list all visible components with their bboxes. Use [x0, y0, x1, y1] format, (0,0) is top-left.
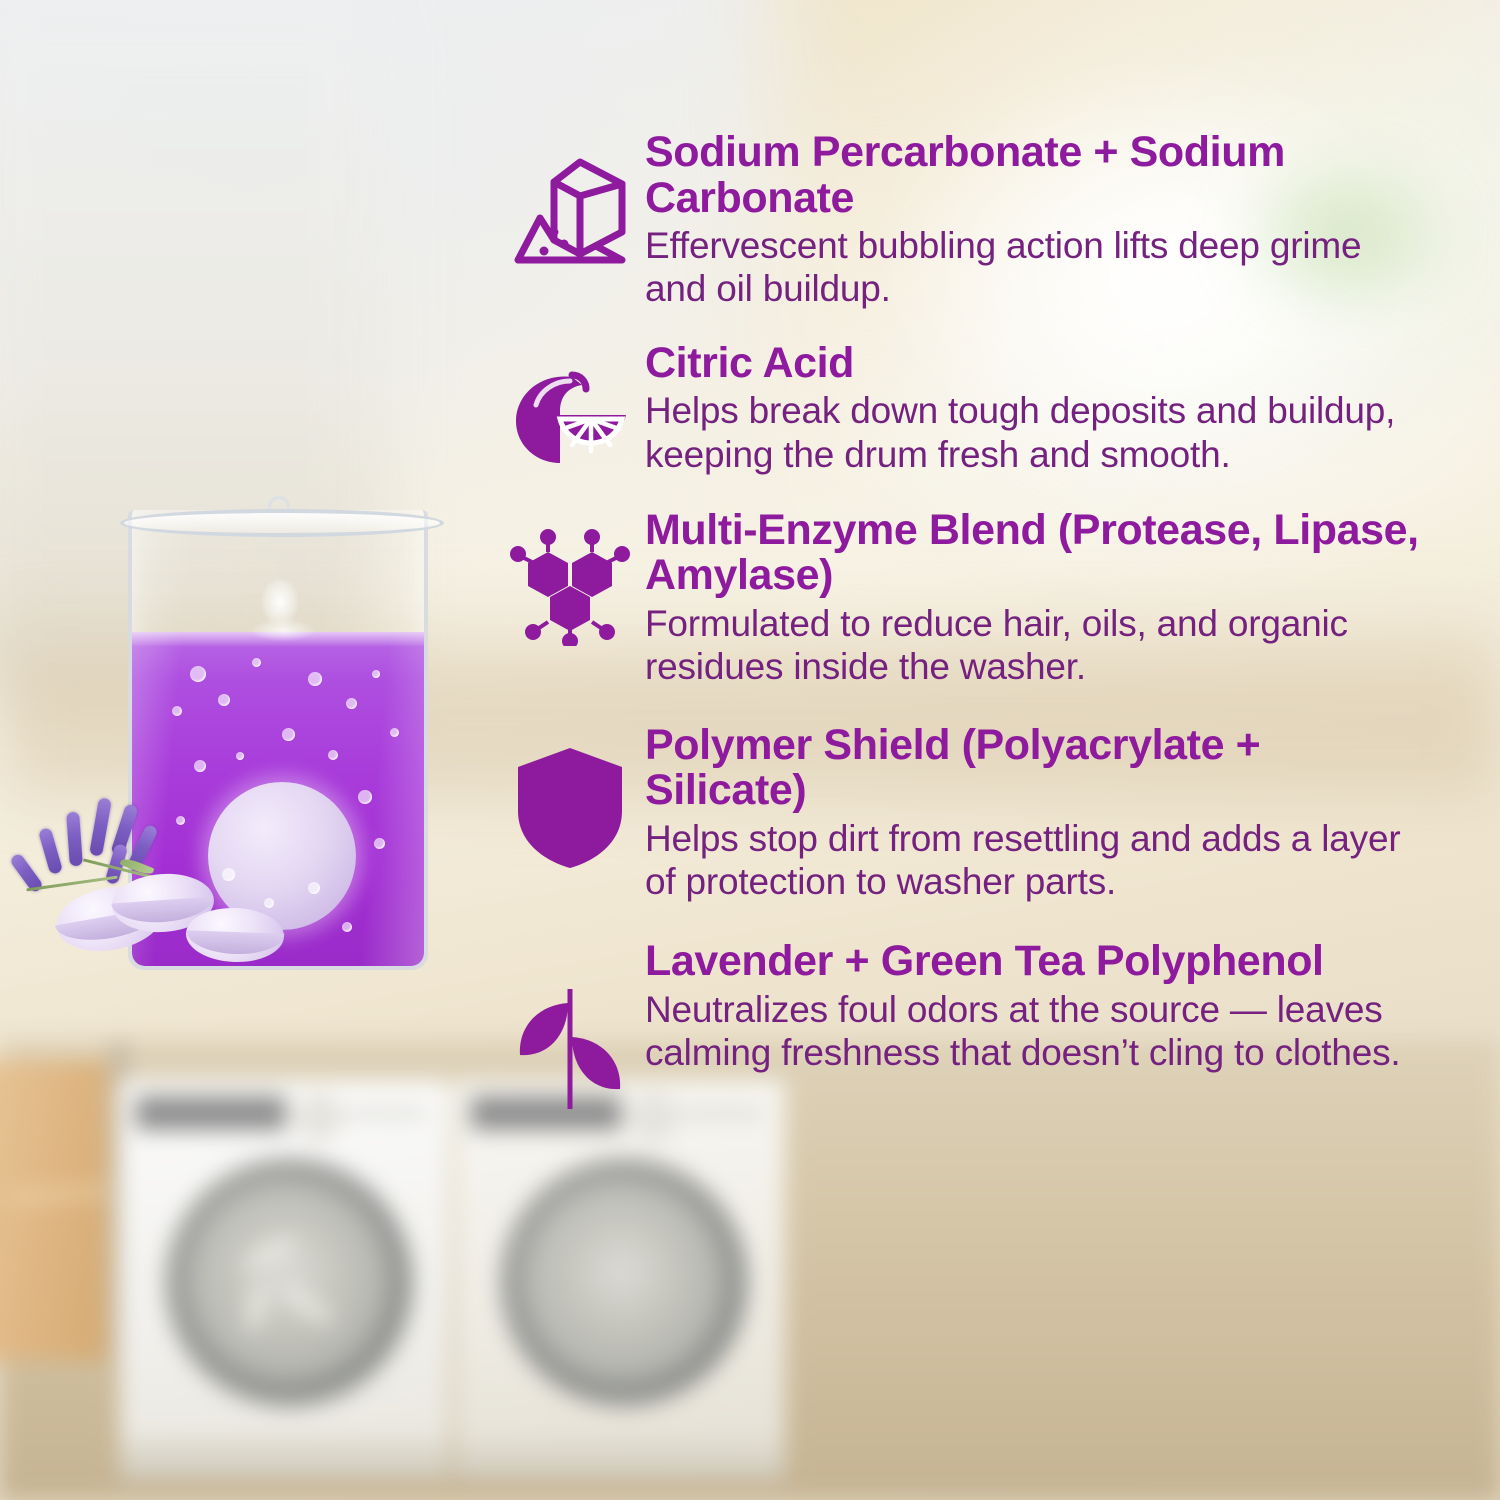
washer-dial	[298, 1096, 340, 1138]
feature-text: Sodium Percarbonate + Sodium Carbonate E…	[645, 128, 1425, 311]
washing-machine-left	[120, 1080, 450, 1480]
beaker-rim	[120, 509, 444, 537]
leaf-sprig-icon	[512, 985, 628, 1113]
bubble	[308, 882, 320, 894]
molecule-icon	[510, 528, 630, 646]
feature-description: Effervescent bubbling action lifts deep …	[645, 224, 1425, 311]
feature-text: Polymer Shield (Polyacrylate + Silicate)…	[645, 721, 1425, 904]
wood-cabinet	[0, 1060, 120, 1360]
feature-item: Lavender + Green Tea Polyphenol Neutrali…	[495, 937, 1425, 1113]
bubble	[358, 790, 372, 804]
bubble	[328, 750, 338, 760]
feature-text: Multi-Enzyme Blend (Protease, Lipase, Am…	[645, 506, 1425, 689]
washer-drum	[553, 1211, 695, 1353]
product-photo	[0, 470, 480, 1040]
bubble	[194, 760, 206, 772]
feature-icon-wrap	[495, 528, 645, 646]
bubble	[342, 922, 352, 932]
bubble	[308, 672, 322, 686]
drum-blade	[240, 1232, 299, 1273]
shield-icon	[514, 745, 626, 871]
powder-cube-icon	[510, 156, 630, 268]
bubble	[222, 868, 235, 881]
lavender-spike	[89, 797, 112, 856]
feature-title: Lavender + Green Tea Polyphenol	[645, 939, 1425, 985]
feature-title: Citric Acid	[645, 341, 1425, 387]
bubble	[190, 666, 206, 682]
lavender-spike	[38, 827, 63, 875]
feature-description: Neutralizes foul odors at the source — l…	[645, 988, 1425, 1075]
splash-crown	[228, 574, 338, 646]
feature-title: Multi-Enzyme Blend (Protease, Lipase, Am…	[645, 508, 1425, 599]
bubble	[172, 706, 182, 716]
feature-icon-wrap	[495, 156, 645, 268]
feature-icon-wrap	[495, 745, 645, 871]
bubble	[252, 658, 261, 667]
bubble	[374, 838, 385, 849]
washer-drum	[218, 1211, 360, 1353]
bubble	[346, 698, 357, 709]
washer-door	[165, 1158, 413, 1406]
bubble	[218, 694, 230, 706]
feature-item: Multi-Enzyme Blend (Protease, Lipase, Am…	[495, 506, 1425, 689]
washer-control-panel	[136, 1096, 286, 1130]
feature-description: Formulated to reduce hair, oils, and org…	[645, 602, 1425, 689]
washing-machine-right	[455, 1080, 785, 1480]
washer-door-ring	[527, 1185, 721, 1379]
feature-item: Sodium Percarbonate + Sodium Carbonate E…	[495, 128, 1425, 311]
feature-item: Polymer Shield (Polyacrylate + Silicate)…	[495, 721, 1425, 904]
washer-base	[455, 1438, 785, 1480]
citrus-slice-icon	[510, 371, 630, 475]
bubble	[372, 670, 380, 678]
feature-icon-wrap	[495, 371, 645, 475]
drum-blade	[243, 1280, 269, 1334]
feature-icon-wrap	[495, 985, 645, 1113]
washer-door-ring	[192, 1185, 386, 1379]
drum-blade	[277, 1281, 337, 1329]
washer-base	[120, 1438, 450, 1480]
lavender-spike	[66, 812, 83, 867]
infographic-canvas: Sodium Percarbonate + Sodium Carbonate E…	[0, 0, 1500, 1500]
feature-list: Sodium Percarbonate + Sodium Carbonate E…	[495, 128, 1425, 1113]
feature-item: Citric Acid Helps break down tough depos…	[495, 339, 1425, 476]
feature-description: Helps break down tough deposits and buil…	[645, 389, 1425, 476]
bubble	[264, 898, 274, 908]
feature-text: Citric Acid Helps break down tough depos…	[645, 339, 1425, 476]
feature-title: Sodium Percarbonate + Sodium Carbonate	[645, 130, 1425, 221]
feature-description: Helps stop dirt from resettling and adds…	[645, 817, 1425, 904]
feature-title: Polymer Shield (Polyacrylate + Silicate)	[645, 723, 1425, 814]
bubble	[236, 752, 244, 760]
feature-text: Lavender + Green Tea Polyphenol Neutrali…	[645, 937, 1425, 1074]
bubble	[390, 728, 399, 737]
washer-display-strip	[344, 1110, 428, 1116]
bubble	[282, 728, 295, 741]
washer-door	[500, 1158, 748, 1406]
